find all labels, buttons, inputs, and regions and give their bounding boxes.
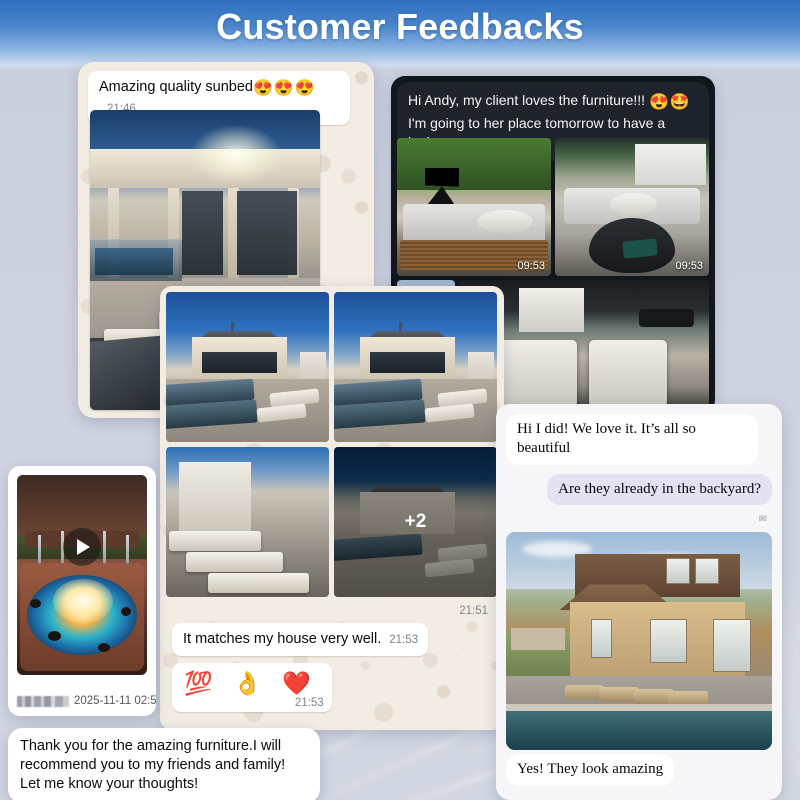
photo-car xyxy=(639,309,694,327)
video-message-card: 2025-11-11 02:5 xyxy=(8,466,156,716)
photo-screen xyxy=(179,462,251,531)
photo-grid-row: +2 xyxy=(166,447,498,597)
fire-pit-glass-rocks-video-thumbnail xyxy=(17,475,147,675)
grid-timestamp: 21:51 xyxy=(459,605,488,617)
play-icon[interactable] xyxy=(63,528,101,566)
photo-wall xyxy=(17,475,147,535)
dark-photo-timestamp: 09:53 xyxy=(517,260,545,272)
photo-glass xyxy=(370,352,445,373)
video-date: 2025-11-11 02:5 xyxy=(74,695,156,707)
imessage-bubble-outgoing[interactable]: Are they already in the backyard? xyxy=(547,474,772,506)
dark-message-emojis: 😍🤩 xyxy=(649,94,691,111)
heart-eyes-emoji: 😍😍😍 xyxy=(253,80,316,97)
sunbeds-closeup-3 xyxy=(166,447,329,597)
photo-flame xyxy=(53,579,113,623)
photo-window xyxy=(713,619,750,671)
backyard-pool-loungers-photo xyxy=(506,532,772,750)
imessage-photo[interactable] xyxy=(506,532,772,750)
round-lounge-chairs-photo xyxy=(555,138,709,276)
thank-you-message-card[interactable]: Thank you for the amazing furniture.I wi… xyxy=(8,728,320,800)
photo-house xyxy=(635,144,706,185)
photo-window xyxy=(519,288,584,332)
photo-grid-row xyxy=(166,292,498,442)
read-receipt-icon: ✉︎ xyxy=(506,514,772,525)
grid-photo-cell-more[interactable]: +2 xyxy=(334,447,497,597)
photo-rock xyxy=(121,607,131,616)
photo-coffee-table xyxy=(610,193,656,215)
photo-sunbed xyxy=(208,573,309,593)
photo-sunbed xyxy=(169,531,260,551)
villa-sunbeds-wide-2 xyxy=(334,292,497,442)
imessage-inner: Hi I did! We love it. It’s all so beauti… xyxy=(496,404,782,800)
blurred-sender-name xyxy=(17,696,69,707)
photo-window xyxy=(591,619,612,658)
more-photos-overlay[interactable]: +2 xyxy=(334,447,497,597)
grid-footer: 21:51 xyxy=(166,602,498,617)
thank-you-text: Thank you for the amazing furniture.I wi… xyxy=(20,738,285,792)
photo-glass-door xyxy=(182,191,223,275)
photo-coffee-table xyxy=(477,210,532,233)
imessage-bubble-incoming[interactable]: Hi I did! We love it. It’s all so beauti… xyxy=(506,414,758,465)
photo-armchair xyxy=(499,340,577,408)
photo-pool xyxy=(95,248,173,275)
grid-message-row: It matches my house very well.21:53 xyxy=(166,617,498,656)
dark-message-line1: Hi Andy, my client loves the furniture!!… xyxy=(408,92,645,108)
grid-emoji-row: 💯 👌 ❤️ 21:53 xyxy=(166,656,498,712)
imessage-row-outgoing: Are they already in the backyard? xyxy=(506,474,772,506)
grid-message-bubble[interactable]: It matches my house very well.21:53 xyxy=(172,623,428,656)
photo-grid-card: +2 21:51 It matches my house very well.2… xyxy=(160,286,504,730)
grid-photo-cell[interactable] xyxy=(334,292,497,442)
photo-glass-door xyxy=(237,191,297,275)
grid-message-text: It matches my house very well. xyxy=(183,631,381,647)
imessage-bubble-last[interactable]: Yes! They look amazing xyxy=(506,754,674,786)
dark-photo-row: 09:53 09:53 xyxy=(397,138,709,276)
grid-message-timestamp: 21:53 xyxy=(389,634,418,646)
photo-grid-inner: +2 21:51 It matches my house very well.2… xyxy=(166,292,498,712)
villa-sunbeds-wide-1 xyxy=(166,292,329,442)
imessage-row-incoming: Hi I did! We love it. It’s all so beauti… xyxy=(506,414,772,465)
imessage-row-last: Yes! They look amazing xyxy=(506,754,772,786)
video-meta: 2025-11-11 02:5 xyxy=(17,695,156,707)
photo-window xyxy=(650,619,687,663)
play-triangle xyxy=(77,539,90,555)
photo-neighbor-house xyxy=(511,628,564,650)
photo-glass xyxy=(202,352,277,373)
page-title: Customer Feedbacks xyxy=(0,6,800,48)
sunbed-message-text: Amazing quality sunbed xyxy=(99,79,253,95)
grid-emoji-bubble[interactable]: 💯 👌 ❤️ 21:53 xyxy=(172,663,332,712)
imessage-chat-card: Hi I did! We love it. It’s all so beauti… xyxy=(496,404,782,800)
photo-rock xyxy=(98,643,110,652)
emoji-reply: 💯 👌 ❤️ xyxy=(184,670,318,696)
photo-rock xyxy=(30,599,41,608)
photo-window xyxy=(695,558,719,584)
grid-emoji-timestamp: 21:53 xyxy=(295,696,324,711)
photo-hedge xyxy=(397,138,551,190)
dark-photo-cell[interactable]: 09:53 xyxy=(555,138,709,276)
photo-sun-flare xyxy=(191,125,281,185)
photo-armchair xyxy=(589,340,667,408)
photo-pool xyxy=(506,711,772,750)
dark-photo-cell[interactable]: 09:53 xyxy=(397,138,551,276)
photo-window xyxy=(666,558,690,584)
outdoor-sectional-sofa-photo xyxy=(397,138,551,276)
photo-sunbed xyxy=(186,552,284,572)
video-thumbnail[interactable] xyxy=(17,475,147,675)
grid-photo-cell[interactable] xyxy=(166,447,329,597)
photo-sculpture xyxy=(425,168,459,204)
dark-photo-timestamp: 09:53 xyxy=(675,260,703,272)
grid-photo-cell[interactable] xyxy=(166,292,329,442)
